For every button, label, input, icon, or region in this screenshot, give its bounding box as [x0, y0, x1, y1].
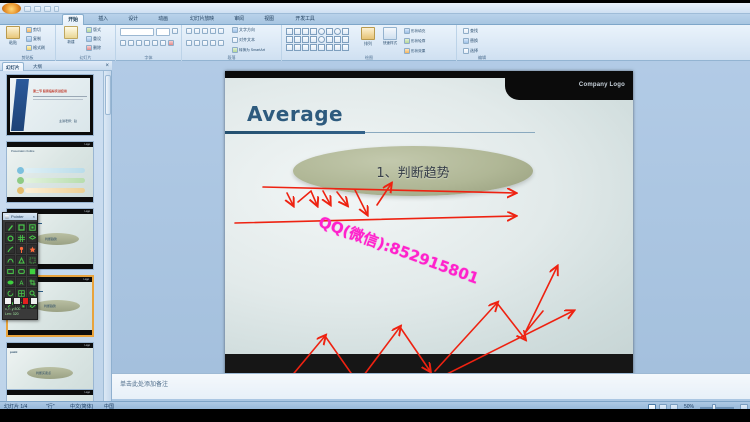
screen: 开始 插入 设计 动画 幻灯片放映 审阅 视图 开发工具 粘贴 剪切 [0, 0, 750, 422]
content-ellipse[interactable]: 1、判断趋势 [293, 146, 533, 196]
palette-close-icon[interactable]: × [33, 213, 35, 220]
numbering-icon[interactable] [194, 28, 200, 34]
text-direction-button[interactable]: 文字方向 [232, 27, 255, 33]
delete-label: 删除 [93, 45, 101, 51]
swatch-white-3[interactable] [30, 297, 38, 305]
align-right-icon[interactable] [202, 40, 208, 46]
reset-icon [86, 36, 92, 42]
thumbnail-scrollbar[interactable] [103, 71, 111, 401]
thumb3-logo: Logo [84, 210, 90, 213]
curve-icon[interactable] [5, 255, 15, 265]
scissors-icon [26, 27, 32, 33]
bold-icon[interactable] [120, 40, 126, 46]
grow-font-icon [172, 28, 178, 34]
layout-icon [86, 27, 92, 33]
align-toolbar [186, 40, 224, 46]
palette-length-label: Len: 320 [5, 312, 20, 317]
reset-button[interactable]: 重设 [86, 36, 101, 42]
align-text-icon [232, 37, 238, 43]
save-quick-icon[interactable] [24, 6, 31, 12]
curve-shape-icon[interactable] [302, 36, 309, 43]
paste-label: 粘贴 [9, 40, 17, 46]
cut-label: 剪切 [33, 27, 41, 33]
shape-outline-icon [404, 38, 410, 44]
text-direction-icon [232, 27, 238, 33]
pentagon-shape-icon[interactable] [326, 36, 333, 43]
align-left-icon[interactable] [186, 40, 192, 46]
thumb6-logo: Logo [84, 391, 90, 394]
bullets-icon[interactable] [186, 28, 192, 34]
paste-button[interactable]: 粘贴 [3, 26, 23, 52]
brace-shape-icon[interactable] [302, 44, 309, 51]
thumb5-logo: Logo [84, 344, 90, 347]
shape-fill-label: 形状填充 [411, 29, 425, 34]
replace-icon [463, 38, 469, 44]
slide-title[interactable]: Average [247, 102, 343, 126]
format-painter-label: 格式刷 [33, 45, 45, 51]
title-underline-light [365, 132, 535, 133]
new-slide-label: 新建 [67, 40, 74, 45]
plaque-shape-icon[interactable] [326, 44, 333, 51]
customize-qat-icon[interactable] [54, 6, 59, 12]
layout-button[interactable]: 版式 [86, 27, 101, 33]
workspace: 幻灯片 大纲 × 第二节 股票指标实战应用 [0, 61, 750, 401]
triangle-icon[interactable] [16, 255, 26, 265]
star-shape-icon[interactable] [310, 44, 317, 51]
triangle-shape-icon[interactable] [294, 36, 301, 43]
slide-canvas[interactable]: Company Logo Average 1、判断趋势 [225, 78, 633, 354]
line-shape-icon[interactable] [302, 28, 309, 35]
thumbnail-scroll-handle[interactable] [105, 75, 111, 115]
rect-icon[interactable] [5, 266, 15, 276]
parallelogram-shape-icon[interactable] [286, 36, 293, 43]
office-button-icon[interactable] [2, 3, 21, 14]
tab-slides[interactable]: 幻灯片 [2, 62, 24, 71]
tab-home[interactable]: 开始 [62, 14, 84, 25]
square-icon[interactable] [16, 222, 26, 232]
palette-title: Pointer [11, 214, 24, 219]
search-icon [463, 28, 469, 34]
current-slide[interactable]: Company Logo Average 1、判断趋势 [225, 71, 633, 376]
find-label: 查找 [470, 28, 478, 34]
redo-quick-icon[interactable] [44, 6, 51, 12]
svg-text:A: A [19, 280, 24, 286]
tab-insert[interactable]: 插入 [92, 14, 114, 25]
ellipse-icon[interactable] [5, 277, 15, 287]
group-label-paragraph: 段落 [182, 54, 281, 61]
thumb1-subtitle: 主讲老师：赵 [59, 119, 77, 123]
quick-styles-button[interactable]: 快速样式 [380, 27, 400, 53]
group-label-editing: 编辑 [457, 54, 507, 61]
group-label-slides: 幻灯片 [56, 54, 115, 61]
ribbon: 粘贴 剪切 复制 格式刷 剪贴板 [0, 25, 750, 61]
company-logo-text: Company Logo [579, 82, 625, 88]
thumb2-title: Presentation Outline [11, 150, 35, 153]
copy-label: 复制 [33, 36, 41, 42]
copy-button[interactable]: 复制 [26, 36, 41, 42]
thumb4-logo: Logo [83, 278, 89, 281]
crop-icon[interactable] [27, 277, 37, 287]
tool-palette[interactable]: Pointer × A [2, 212, 38, 320]
powerpoint-window: 开始 插入 设计 动画 幻灯片放映 审阅 视图 开发工具 粘贴 剪切 [0, 3, 750, 412]
shape-outline-button[interactable]: 形状轮廓 [404, 38, 425, 44]
ribbon-group-drawing: 排列 快速样式 形状填充 形状轮廓 形状效果 绘图 [282, 25, 457, 61]
shape-effects-label: 形状效果 [411, 49, 425, 54]
ribbon-group-clipboard: 粘贴 剪切 复制 格式刷 剪贴板 [0, 25, 56, 61]
ellipse-label: 1、判断趋势 [376, 162, 449, 181]
format-painter-button[interactable]: 格式刷 [26, 45, 45, 51]
bracket-shape-icon[interactable] [294, 44, 301, 51]
arrow-shape-icon[interactable] [310, 28, 317, 35]
shape-outline-label: 形状轮廓 [411, 39, 425, 44]
tab-outline[interactable]: 大纲 [30, 62, 45, 71]
undo-quick-icon[interactable] [34, 6, 41, 12]
layout-label: 版式 [93, 27, 101, 33]
title-underline-dark [225, 131, 365, 134]
tab-slideshow[interactable]: 幻灯片放映 [182, 14, 222, 25]
thumb1-title: 第二节 股票指标实战应用 [33, 89, 67, 93]
close-pane-icon[interactable]: × [105, 62, 109, 70]
tab-design[interactable]: 设计 [122, 14, 144, 25]
chevron-shape-icon[interactable] [334, 36, 341, 43]
arrange-button[interactable]: 排列 [358, 27, 378, 53]
font-size-input[interactable] [156, 28, 170, 36]
palette-coordinates: x,Y: y:500 Len: 320 [5, 307, 20, 317]
replace-button[interactable]: 替换 [463, 38, 478, 44]
new-slide-icon [64, 26, 78, 39]
shape-fill-icon [404, 28, 410, 34]
rectangle-shape-icon[interactable] [286, 28, 293, 35]
grow-font-button[interactable] [172, 28, 178, 34]
decrease-indent-icon[interactable] [202, 28, 208, 34]
palette-titlebar[interactable]: Pointer × [3, 213, 37, 220]
strikethrough-icon[interactable] [152, 40, 158, 46]
shapes-gallery[interactable] [286, 28, 349, 51]
palette-menu-icon[interactable] [5, 215, 9, 219]
italic-icon[interactable] [128, 40, 134, 46]
delete-slide-button[interactable]: 删除 [86, 45, 101, 51]
quick-styles-icon [383, 27, 397, 40]
copy-icon [26, 36, 32, 42]
thumb5-header: point [10, 350, 17, 354]
thumb2-logo: Logo [84, 143, 90, 146]
letterbox-bottom [0, 409, 750, 422]
arrange-label: 排列 [364, 41, 372, 47]
cut-button[interactable]: 剪切 [26, 27, 41, 33]
ribbon-tabbar: 开始 插入 设计 动画 幻灯片放映 审阅 视图 开发工具 [0, 14, 750, 25]
thumbnail-slide-6[interactable]: Logo Third point [6, 389, 94, 401]
fill-icon[interactable] [27, 266, 37, 276]
oval-shape-icon[interactable] [334, 28, 341, 35]
frame-icon[interactable] [27, 222, 37, 232]
align-text-button[interactable]: 对齐文本 [232, 37, 255, 43]
notes-placeholder: 单击此处添加备注 [120, 379, 168, 388]
grid-icon[interactable] [16, 233, 26, 243]
rounded-rect-shape-icon[interactable] [326, 28, 333, 35]
group-label-drawing: 绘图 [282, 54, 456, 61]
new-slide-button[interactable]: 新建 [61, 26, 81, 52]
convert-smartart-button[interactable]: 转换为 SmartArt [232, 47, 265, 53]
ribbon-group-editing: 查找 替换 选择 编辑 [457, 25, 507, 61]
shadow-icon[interactable] [144, 40, 150, 46]
cube-shape-icon[interactable] [342, 36, 349, 43]
thumbnail-slide-2[interactable]: Logo Presentation Outline [6, 141, 94, 203]
pen-icon[interactable] [5, 222, 15, 232]
swatch-red[interactable] [22, 297, 30, 305]
banner-shape-icon[interactable] [318, 44, 325, 51]
font-style-toolbar [120, 40, 174, 46]
group-label-clipboard: 剪贴板 [0, 54, 55, 61]
rounded-rect-icon[interactable] [16, 266, 26, 276]
reset-label: 重设 [93, 36, 101, 42]
select-icon[interactable] [27, 255, 37, 265]
group-label-font: 字体 [116, 54, 181, 61]
flowchart-shape-icon[interactable] [334, 44, 341, 51]
text-direction-label: 文字方向 [239, 27, 255, 33]
columns-icon[interactable] [218, 40, 224, 46]
align-center-icon[interactable] [194, 40, 200, 46]
ribbon-group-paragraph: 文字方向 对齐文本 转换为 SmartArt 段落 [182, 25, 282, 61]
brush-icon[interactable] [5, 244, 15, 254]
align-text-label: 对齐文本 [239, 37, 255, 43]
tab-animation[interactable]: 动画 [152, 14, 174, 25]
arrange-icon [361, 27, 375, 40]
text-icon[interactable]: A [16, 277, 26, 287]
smartart-icon [232, 47, 238, 53]
palette-color-swatches[interactable] [4, 296, 38, 305]
font-name-input[interactable] [120, 28, 154, 36]
freeform-shape-icon[interactable] [310, 36, 317, 43]
ribbon-group-font: 字体 [116, 25, 182, 61]
quick-access-toolbar [0, 3, 750, 14]
notes-pane[interactable]: 单击此处添加备注 [112, 373, 750, 399]
thumb4-title: 判断趋势 [44, 304, 56, 308]
ribbon-group-slides: 新建 版式 重设 删除 幻灯片 [56, 25, 116, 61]
tab-devtools[interactable]: 开发工具 [288, 14, 322, 25]
smartart-label: 转换为 SmartArt [239, 48, 265, 53]
justify-icon[interactable] [210, 40, 216, 46]
character-spacing-icon[interactable] [160, 40, 166, 46]
square-shape-icon[interactable] [294, 28, 301, 35]
font-color-icon[interactable] [168, 40, 174, 46]
shape-icon[interactable] [5, 233, 15, 243]
thumbnail-slide-1[interactable]: 第二节 股票指标实战应用 主讲老师：赵 [6, 74, 94, 136]
circle-shape-icon[interactable] [318, 28, 325, 35]
layers-icon[interactable] [27, 233, 37, 243]
tab-review[interactable]: 审阅 [228, 14, 250, 25]
line-spacing-icon[interactable] [218, 28, 224, 34]
thumb3-title: 判断趋势 [45, 237, 57, 241]
donut-shape-icon[interactable] [318, 36, 325, 43]
quick-styles-label: 快速样式 [383, 41, 397, 46]
thumbnail-pane-tabs: 幻灯片 大纲 × [0, 61, 112, 71]
find-button[interactable]: 查找 [463, 28, 478, 34]
slide-editing-area[interactable]: Company Logo Average 1、判断趋势 [112, 61, 750, 373]
star-icon[interactable] [27, 244, 37, 254]
more-shapes-icon[interactable] [342, 44, 349, 51]
pin-icon[interactable] [16, 244, 26, 254]
can-shape-icon[interactable] [286, 44, 293, 51]
swatch-white-2[interactable] [13, 297, 21, 305]
underline-icon[interactable] [136, 40, 142, 46]
thumb5-title: 判断买卖点 [36, 371, 51, 375]
swatch-white-1[interactable] [4, 297, 12, 305]
callout-shape-icon[interactable] [342, 28, 349, 35]
shape-fill-button[interactable]: 形状填充 [404, 28, 425, 34]
replace-label: 替换 [470, 38, 478, 44]
increase-indent-icon[interactable] [210, 28, 216, 34]
tab-view[interactable]: 视图 [258, 14, 280, 25]
list-toolbar [186, 28, 224, 34]
delete-icon [86, 45, 92, 51]
paste-icon [6, 26, 20, 39]
brush-icon [26, 45, 32, 51]
